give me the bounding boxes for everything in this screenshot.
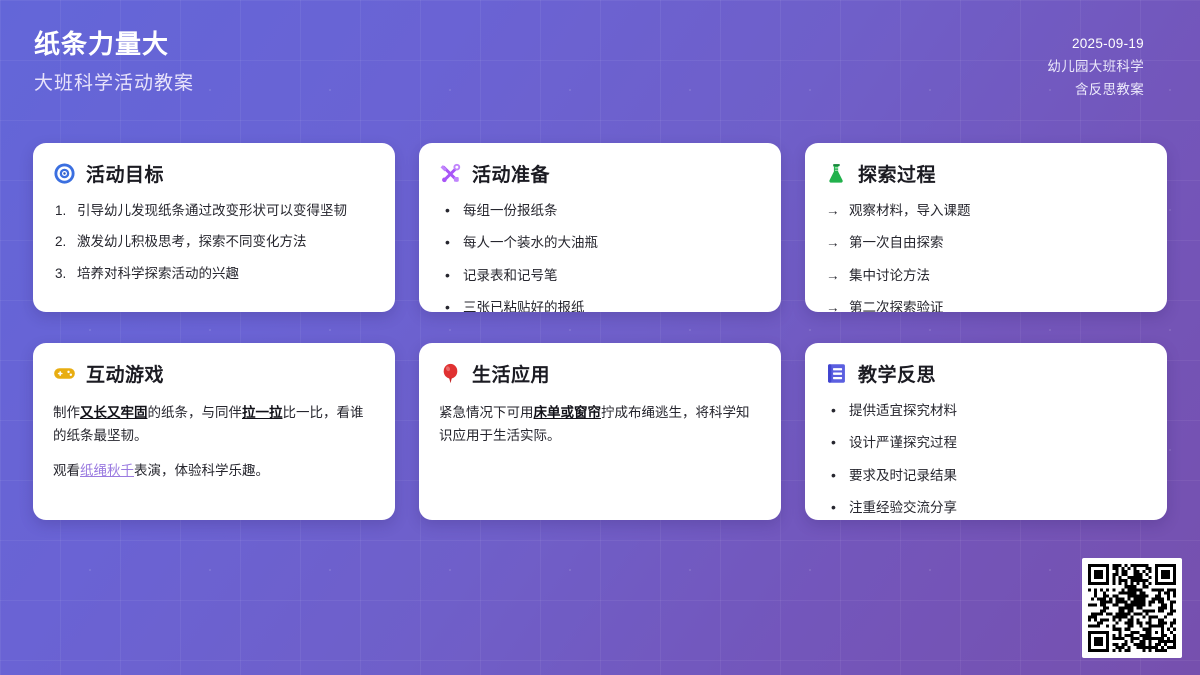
card-application[interactable]: 生活应用 紧急情况下可用床单或窗帘拧成布绳逃生，将科学知识应用于生活实际。: [419, 343, 781, 520]
balloon-icon: [439, 362, 462, 385]
meta-type: 含反思教案: [1047, 78, 1144, 101]
card-title: 探索过程: [858, 160, 936, 187]
text-run: 观看: [53, 463, 80, 478]
meta-category: 幼儿园大班科学: [1047, 55, 1144, 78]
cards-grid: 活动目标 引导幼儿发现纸条通过改变形状可以变得坚韧 激发幼儿积极思考，探索不同变…: [33, 143, 1167, 520]
list-item: 第一次自由探索: [825, 233, 1147, 253]
goals-list: 引导幼儿发现纸条通过改变形状可以变得坚韧 激发幼儿积极思考，探索不同变化方法 培…: [53, 201, 375, 284]
book-icon: [825, 362, 848, 385]
gamepad-icon: [53, 362, 76, 385]
card-title: 活动目标: [86, 160, 164, 187]
list-item: 提供适宜探究材料: [825, 401, 1147, 421]
text-run: 的纸条，与同伴: [148, 405, 243, 420]
emphasis-text: 又长又牢固: [80, 405, 148, 420]
card-goals[interactable]: 活动目标 引导幼儿发现纸条通过改变形状可以变得坚韧 激发幼儿积极思考，探索不同变…: [33, 143, 395, 312]
flask-icon: [825, 162, 848, 185]
list-item: 注重经验交流分享: [825, 498, 1147, 518]
card-materials[interactable]: 活动准备 每组一份报纸条 每人一个装水的大油瓶 记录表和记号笔 三张已粘贴好的报…: [419, 143, 781, 312]
emphasis-text: 床单或窗帘: [534, 405, 602, 420]
list-item: 集中讨论方法: [825, 266, 1147, 286]
card-header: 互动游戏: [53, 360, 375, 387]
card-header: 活动准备: [439, 160, 761, 187]
slide-page: 纸条力量大 大班科学活动教案 2025-09-19 幼儿园大班科学 含反思教案 …: [0, 0, 1200, 675]
header: 纸条力量大 大班科学活动教案 2025-09-19 幼儿园大班科学 含反思教案: [0, 0, 1200, 125]
game-paragraph-2: 观看纸绳秋千表演，体验科学乐趣。: [53, 459, 375, 482]
list-item: 引导幼儿发现纸条通过改变形状可以变得坚韧: [53, 201, 375, 221]
list-item: 每组一份报纸条: [439, 201, 761, 221]
card-title: 生活应用: [472, 360, 550, 387]
card-header: 教学反思: [825, 360, 1147, 387]
qr-code-image: [1088, 564, 1176, 652]
list-item: 记录表和记号笔: [439, 266, 761, 286]
emphasis-text: 拉一拉: [242, 405, 283, 420]
card-header: 生活应用: [439, 360, 761, 387]
reflection-list: 提供适宜探究材料 设计严谨探究过程 要求及时记录结果 注重经验交流分享: [825, 401, 1147, 518]
list-item: 每人一个装水的大油瓶: [439, 233, 761, 253]
qr-code[interactable]: [1082, 558, 1182, 658]
card-game[interactable]: 互动游戏 制作又长又牢固的纸条，与同伴拉一拉比一比，看谁的纸条最坚韧。 观看纸绳…: [33, 343, 395, 520]
list-item: 要求及时记录结果: [825, 466, 1147, 486]
card-title: 活动准备: [472, 160, 550, 187]
list-item: 观察材料，导入课题: [825, 201, 1147, 221]
text-run: 紧急情况下可用: [439, 405, 534, 420]
target-icon: [53, 162, 76, 185]
card-header: 活动目标: [53, 160, 375, 187]
paper-swing-link[interactable]: 纸绳秋千: [80, 463, 134, 478]
list-item: 三张已粘贴好的报纸: [439, 298, 761, 312]
card-process[interactable]: 探索过程 观察材料，导入课题 第一次自由探索 集中讨论方法 第二次探索验证: [805, 143, 1167, 312]
page-title: 纸条力量大: [34, 28, 194, 61]
game-paragraph-1: 制作又长又牢固的纸条，与同伴拉一拉比一比，看谁的纸条最坚韧。: [53, 401, 375, 447]
process-list: 观察材料，导入课题 第一次自由探索 集中讨论方法 第二次探索验证: [825, 201, 1147, 312]
card-title: 教学反思: [858, 360, 936, 387]
header-meta: 2025-09-19 幼儿园大班科学 含反思教案: [1047, 28, 1144, 102]
application-paragraph: 紧急情况下可用床单或窗帘拧成布绳逃生，将科学知识应用于生活实际。: [439, 401, 761, 447]
list-item: 激发幼儿积极思考，探索不同变化方法: [53, 232, 375, 252]
list-item: 第二次探索验证: [825, 298, 1147, 312]
card-title: 互动游戏: [86, 360, 164, 387]
title-block: 纸条力量大 大班科学活动教案: [34, 28, 194, 95]
text-run: 表演，体验科学乐趣。: [134, 463, 269, 478]
tools-icon: [439, 162, 462, 185]
list-item: 设计严谨探究过程: [825, 433, 1147, 453]
card-reflection[interactable]: 教学反思 提供适宜探究材料 设计严谨探究过程 要求及时记录结果 注重经验交流分享: [805, 343, 1167, 520]
materials-list: 每组一份报纸条 每人一个装水的大油瓶 记录表和记号笔 三张已粘贴好的报纸: [439, 201, 761, 312]
card-header: 探索过程: [825, 160, 1147, 187]
text-run: 制作: [53, 405, 80, 420]
list-item: 培养对科学探索活动的兴趣: [53, 264, 375, 284]
page-subtitle: 大班科学活动教案: [34, 72, 194, 96]
meta-date: 2025-09-19: [1047, 32, 1144, 55]
